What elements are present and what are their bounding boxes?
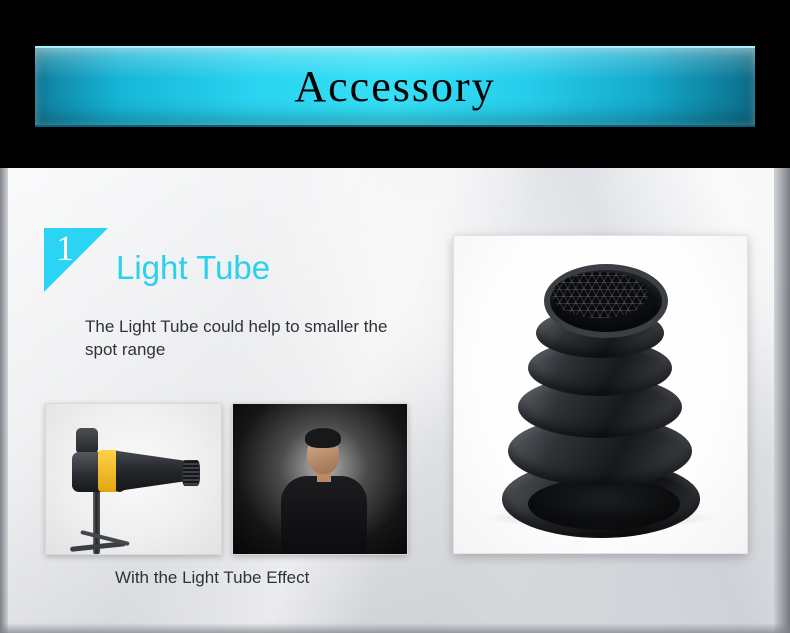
panel-right-edge [774, 168, 790, 633]
flag-triangle-icon [44, 228, 108, 292]
light-top-knob [76, 428, 98, 454]
product-shadow [484, 507, 718, 529]
light-tube-grid [182, 460, 200, 486]
product-light-tube [506, 264, 696, 514]
panel-left-edge [0, 168, 8, 633]
banner-title: Accessory [294, 65, 495, 109]
section-number: 1 [56, 230, 74, 266]
model-hair [305, 428, 341, 448]
thumbnail-portrait-effect [232, 403, 408, 555]
thumbnail-light-with-tube [45, 403, 222, 555]
section-heading: 1 Light Tube [44, 228, 270, 292]
section-title: Light Tube [116, 251, 270, 284]
panel-bottom-edge [0, 623, 790, 633]
content-panel: 1 Light Tube The Light Tube could help t… [0, 168, 790, 633]
honeycomb-grid-icon [552, 272, 648, 318]
product-photo-card [453, 235, 748, 554]
thumbnail-caption: With the Light Tube Effect [115, 568, 309, 588]
section-number-flag: 1 [44, 228, 108, 292]
section-description: The Light Tube could help to smaller the… [85, 316, 415, 362]
banner-bar: Accessory [35, 46, 755, 127]
model-torso [281, 476, 367, 554]
banner: Accessory [0, 0, 790, 168]
